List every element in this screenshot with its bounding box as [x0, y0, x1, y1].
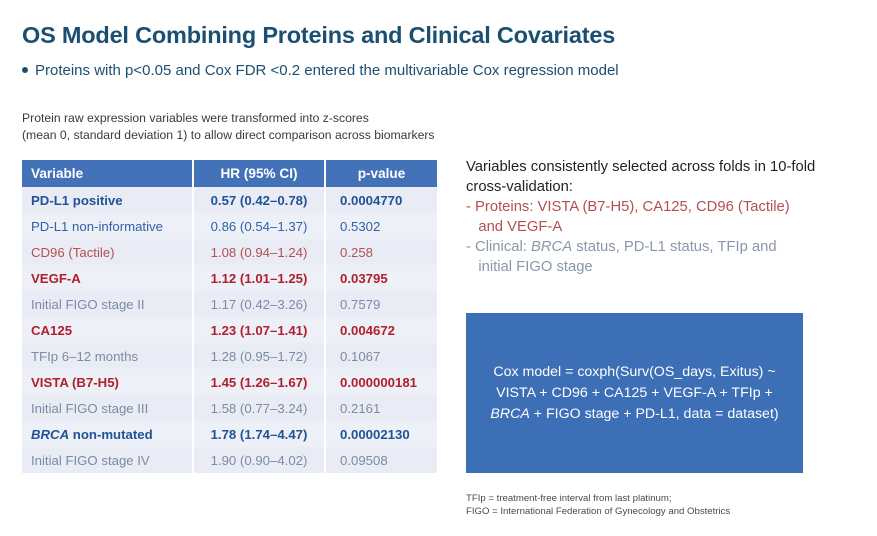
cell-variable: Initial FIGO stage III [22, 395, 193, 421]
table-note-line-1: Protein raw expression variables were tr… [22, 110, 452, 127]
table-body: PD-L1 positive0.57 (0.42–0.78)0.0004770P… [22, 187, 437, 473]
subtitle-bullet-line: Proteins with p<0.05 and Cox FDR <0.2 en… [22, 62, 619, 79]
cell-hr: 1.23 (1.07–1.41) [193, 317, 325, 343]
cv-clinical-prefix: - Clinical: [466, 239, 531, 255]
cell-variable: VISTA (B7-H5) [22, 369, 193, 395]
footnote-line-2: FIGO = International Federation of Gynec… [466, 505, 730, 518]
cell-pvalue: 0.2161 [325, 395, 437, 421]
footnote: TFIp = treatment-free interval from last… [466, 492, 730, 518]
cell-hr: 0.57 (0.42–0.78) [193, 187, 325, 213]
subtitle-text: Proteins with p<0.05 and Cox FDR <0.2 en… [35, 62, 619, 79]
cell-variable: VEGF-A [22, 265, 193, 291]
cell-variable: Initial FIGO stage II [22, 291, 193, 317]
table-row: PD-L1 non-informative0.86 (0.54–1.37)0.5… [22, 213, 437, 239]
cv-clinical-italic: BRCA [531, 239, 572, 255]
cell-hr: 1.58 (0.77–3.24) [193, 395, 325, 421]
cell-pvalue: 0.000000181 [325, 369, 437, 395]
table-note: Protein raw expression variables were tr… [22, 110, 452, 144]
table-row: CD96 (Tactile)1.08 (0.94–1.24)0.258 [22, 239, 437, 265]
cv-heading-line-2: cross-validation: [466, 177, 866, 197]
table-row: Initial FIGO stage IV1.90 (0.90–4.02)0.0… [22, 447, 437, 473]
cell-variable: CA125 [22, 317, 193, 343]
table-header-row: Variable HR (95% CI) p-value [22, 160, 437, 187]
formula-line-3-rest: + FIGO stage + PD-L1, data = dataset) [530, 406, 779, 422]
cell-pvalue: 0.09508 [325, 447, 437, 473]
cv-item-clinical: - Clinical: BRCA status, PD-L1 status, T… [466, 237, 866, 277]
table-row: VEGF-A1.12 (1.01–1.25)0.03795 [22, 265, 437, 291]
column-header-variable: Variable [22, 160, 193, 187]
column-header-hr: HR (95% CI) [193, 160, 325, 187]
cell-variable: BRCA non-mutated [22, 421, 193, 447]
table-row: PD-L1 positive0.57 (0.42–0.78)0.0004770 [22, 187, 437, 213]
cell-variable: PD-L1 positive [22, 187, 193, 213]
cell-pvalue: 0.7579 [325, 291, 437, 317]
cox-model-formula-text: Cox model = coxph(Surv(OS_days, Exitus) … [482, 362, 786, 425]
cv-heading-line-1: Variables consistently selected across f… [466, 157, 866, 177]
cell-pvalue: 0.5302 [325, 213, 437, 239]
cv-item-proteins: - Proteins: VISTA (B7-H5), CA125, CD96 (… [466, 197, 866, 237]
cell-hr: 1.12 (1.01–1.25) [193, 265, 325, 291]
cell-variable: Initial FIGO stage IV [22, 447, 193, 473]
cell-pvalue: 0.1067 [325, 343, 437, 369]
formula-line-1: Cox model = coxph(Surv(OS_days, Exitus) … [493, 364, 775, 380]
cell-hr: 1.17 (0.42–3.26) [193, 291, 325, 317]
table-row: VISTA (B7-H5)1.45 (1.26–1.67)0.000000181 [22, 369, 437, 395]
column-header-pvalue: p-value [325, 160, 437, 187]
bullet-dot-icon [22, 67, 28, 73]
formula-line-3-italic: BRCA [490, 406, 529, 422]
cell-variable: TFIp 6–12 months [22, 343, 193, 369]
cell-variable-italic: BRCA [31, 427, 69, 442]
table-row: BRCA non-mutated1.78 (1.74–4.47)0.000021… [22, 421, 437, 447]
cell-pvalue: 0.03795 [325, 265, 437, 291]
page-title: OS Model Combining Proteins and Clinical… [22, 22, 615, 49]
table-row: TFIp 6–12 months1.28 (0.95–1.72)0.1067 [22, 343, 437, 369]
cell-hr: 1.78 (1.74–4.47) [193, 421, 325, 447]
cell-variable: CD96 (Tactile) [22, 239, 193, 265]
table-row: CA1251.23 (1.07–1.41)0.004672 [22, 317, 437, 343]
cell-hr: 0.86 (0.54–1.37) [193, 213, 325, 239]
table-note-line-2: (mean 0, standard deviation 1) to allow … [22, 127, 452, 144]
cell-pvalue: 0.258 [325, 239, 437, 265]
cell-pvalue: 0.00002130 [325, 421, 437, 447]
cell-hr: 1.45 (1.26–1.67) [193, 369, 325, 395]
formula-line-2: VISTA + CD96 + CA125 + VEGF-A + TFIp + [496, 385, 773, 401]
cross-validation-panel: Variables consistently selected across f… [466, 157, 866, 277]
cell-pvalue: 0.004672 [325, 317, 437, 343]
cell-hr: 1.08 (0.94–1.24) [193, 239, 325, 265]
table-row: Initial FIGO stage II1.17 (0.42–3.26)0.7… [22, 291, 437, 317]
cell-variable: PD-L1 non-informative [22, 213, 193, 239]
cv-heading: Variables consistently selected across f… [466, 157, 866, 197]
footnote-line-1: TFIp = treatment-free interval from last… [466, 492, 730, 505]
cell-pvalue: 0.0004770 [325, 187, 437, 213]
cell-hr: 1.90 (0.90–4.02) [193, 447, 325, 473]
cox-model-formula-box: Cox model = coxph(Surv(OS_days, Exitus) … [466, 313, 803, 473]
table-row: Initial FIGO stage III1.58 (0.77–3.24)0.… [22, 395, 437, 421]
cell-hr: 1.28 (0.95–1.72) [193, 343, 325, 369]
hazard-ratio-table: Variable HR (95% CI) p-value PD-L1 posit… [22, 160, 437, 473]
